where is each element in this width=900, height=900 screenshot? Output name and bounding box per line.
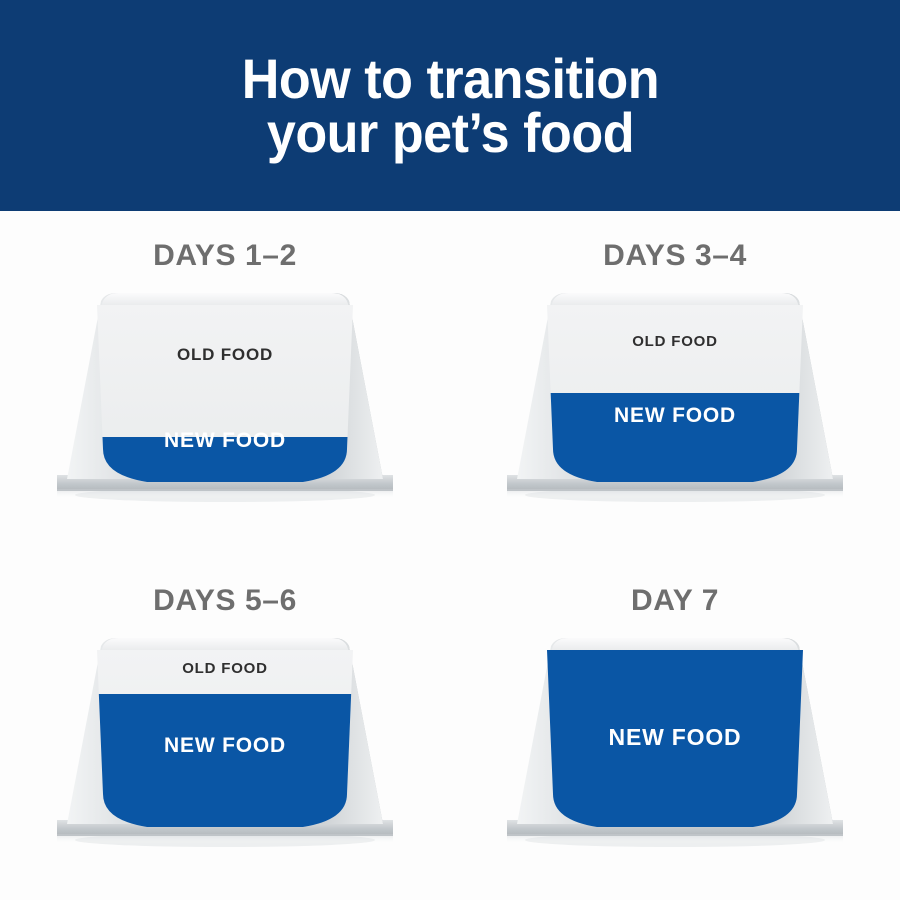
bowl-2: OLD FOOD NEW FOOD bbox=[495, 279, 855, 519]
bowl-reflection bbox=[57, 834, 393, 844]
step-card-3: DAYS 5–6 bbox=[0, 556, 450, 900]
bowl-graphic-3 bbox=[45, 624, 405, 864]
step-title-3: DAYS 5–6 bbox=[153, 584, 297, 618]
header-banner: How to transition your pet’s food bbox=[0, 0, 900, 211]
bowl-graphic-1 bbox=[45, 279, 405, 519]
step-card-1: DAYS 1–2 bbox=[0, 211, 450, 556]
infographic-page: How to transition your pet’s food DAYS 1… bbox=[0, 0, 900, 900]
page-title-line2: your pet’s food bbox=[266, 106, 633, 160]
bowl-4: NEW FOOD bbox=[495, 624, 855, 864]
bowl-reflection bbox=[507, 834, 843, 844]
bowl-graphic-4 bbox=[495, 624, 855, 864]
step-title-2: DAYS 3–4 bbox=[603, 239, 747, 273]
bowl-3: OLD FOOD NEW FOOD bbox=[45, 624, 405, 864]
bowl-graphic-2 bbox=[495, 279, 855, 519]
step-title-4: DAY 7 bbox=[631, 584, 719, 618]
bowl-1: OLD FOOD NEW FOOD bbox=[45, 279, 405, 519]
bowl-reflection bbox=[507, 489, 843, 499]
transition-steps-grid: DAYS 1–2 bbox=[0, 211, 900, 900]
page-title-line1: How to transition bbox=[241, 52, 658, 106]
bowl-reflection bbox=[57, 489, 393, 499]
step-title-1: DAYS 1–2 bbox=[153, 239, 297, 273]
step-card-4: DAY 7 bbox=[450, 556, 900, 900]
step-card-2: DAYS 3–4 bbox=[450, 211, 900, 556]
